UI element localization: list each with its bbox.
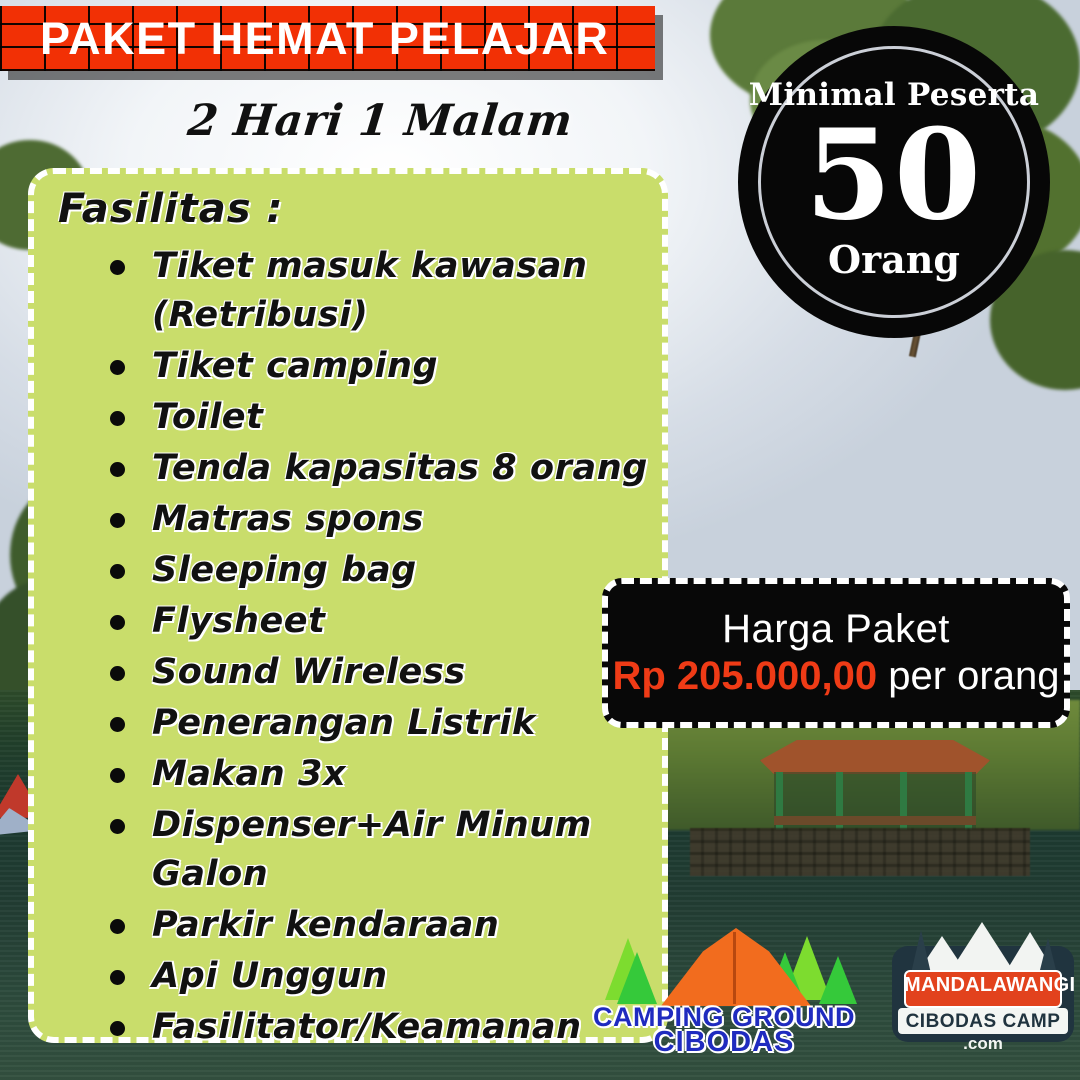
- stone-retaining-wall: [690, 828, 1030, 876]
- facilities-heading: Fasilitas :: [58, 186, 284, 232]
- tent-center-pole: [733, 932, 736, 1004]
- logo-line-2: CIBODAS CAMP: [898, 1011, 1068, 1033]
- poster-canvas: PAKET HEMAT PELAJAR 2 Hari 1 Malam Fasil…: [0, 0, 1080, 1080]
- price-line: Rp 205.000,00 per orang: [613, 654, 1060, 699]
- badge-number: 50: [805, 115, 983, 235]
- list-item: Matras spons: [106, 495, 648, 544]
- list-item: Fasilitator/Keamanan: [106, 1003, 648, 1052]
- header-banner: PAKET HEMAT PELAJAR: [0, 6, 655, 71]
- mandalawangi-logo: MANDALAWANGI CIBODAS CAMP .com: [892, 922, 1074, 1056]
- list-item: Penerangan Listrik: [106, 699, 648, 748]
- price-label: Harga Paket: [722, 607, 950, 652]
- list-item: Toilet: [106, 393, 648, 442]
- logo-line-2: CIBODAS: [593, 1026, 855, 1059]
- minimum-participants-badge: Minimal Peserta 50 Orang: [738, 26, 1050, 338]
- logo-line-1: MANDALAWANGI: [904, 974, 1062, 997]
- price-unit: per orang: [877, 654, 1059, 698]
- list-item: Dispenser+Air Minum Galon: [106, 801, 648, 899]
- list-item: Tiket camping: [106, 342, 648, 391]
- list-item: Sleeping bag: [106, 546, 648, 595]
- list-item: Makan 3x: [106, 750, 648, 799]
- list-item: Api Unggun: [106, 952, 648, 1001]
- price-amount: Rp 205.000,00: [613, 654, 878, 698]
- gazebo-structure: [760, 740, 990, 830]
- banner-title: PAKET HEMAT PELAJAR: [0, 6, 655, 71]
- price-box: Harga Paket Rp 205.000,00 per orang: [602, 578, 1070, 728]
- logo-line-3: .com: [892, 1034, 1074, 1054]
- list-item: Parkir kendaraan: [106, 901, 648, 950]
- facilities-card: Fasilitas : Tiket masuk kawasan (Retribu…: [28, 168, 668, 1043]
- list-item: Tenda kapasitas 8 orang: [106, 444, 648, 493]
- duration-subtitle: 2 Hari 1 Malam: [185, 96, 650, 146]
- facilities-list: Tiket masuk kawasan (Retribusi) Tiket ca…: [106, 242, 648, 1054]
- list-item: Tiket masuk kawasan (Retribusi): [106, 242, 648, 340]
- camping-ground-logo: CAMPING GROUND CIBODAS: [583, 922, 861, 1052]
- list-item: Sound Wireless: [106, 648, 648, 697]
- badge-bottom-label: Orang: [828, 237, 960, 282]
- list-item: Flysheet: [106, 597, 648, 646]
